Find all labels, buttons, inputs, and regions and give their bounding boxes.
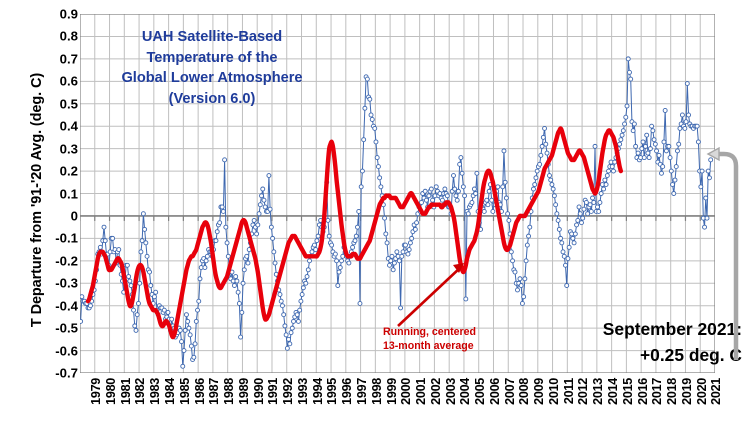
data-point-marker	[139, 250, 143, 254]
data-point-marker	[360, 169, 364, 173]
data-point-marker	[299, 299, 303, 303]
x-tick-label: 2008	[517, 378, 531, 405]
data-point-marker	[203, 266, 207, 270]
data-point-marker	[214, 239, 218, 243]
data-point-marker	[572, 241, 576, 245]
data-point-marker	[363, 106, 367, 110]
data-point-marker	[541, 135, 545, 139]
data-point-marker	[645, 133, 649, 137]
data-point-marker	[258, 203, 262, 207]
data-point-marker	[385, 241, 389, 245]
data-point-marker	[460, 171, 464, 175]
data-point-marker	[340, 259, 344, 263]
data-point-marker	[506, 212, 510, 216]
data-point-marker	[102, 225, 106, 229]
data-point-marker	[486, 203, 490, 207]
data-point-marker	[610, 165, 614, 169]
data-point-marker	[501, 185, 505, 189]
data-point-marker	[300, 292, 304, 296]
x-tick-label: 2002	[429, 378, 443, 405]
data-point-marker	[236, 290, 240, 294]
data-point-marker	[192, 355, 196, 359]
data-point-marker	[391, 268, 395, 272]
data-point-marker	[668, 156, 672, 160]
data-point-marker	[518, 277, 522, 281]
data-point-marker	[221, 209, 225, 213]
data-point-marker	[283, 324, 287, 328]
data-point-marker	[279, 299, 283, 303]
data-point-marker	[427, 194, 431, 198]
data-point-marker	[415, 221, 419, 225]
data-point-marker	[333, 252, 337, 256]
data-point-marker	[400, 254, 404, 258]
x-tick-label: 2001	[414, 378, 428, 405]
data-point-marker	[255, 232, 259, 236]
data-point-marker	[143, 227, 147, 231]
data-point-marker	[388, 263, 392, 267]
zero-line-group	[80, 216, 715, 221]
data-point-marker	[589, 209, 593, 213]
data-point-marker	[556, 218, 560, 222]
data-point-marker	[496, 185, 500, 189]
data-point-marker	[454, 194, 458, 198]
data-point-marker	[559, 236, 563, 240]
x-tick-label: 1980	[104, 378, 118, 405]
data-point-marker	[538, 162, 542, 166]
data-point-marker	[579, 221, 583, 225]
data-point-marker	[144, 241, 148, 245]
y-tick-label: -0.6	[34, 343, 78, 358]
data-point-marker	[351, 245, 355, 249]
data-point-marker	[125, 263, 129, 267]
data-point-marker	[224, 225, 228, 229]
data-point-marker	[359, 185, 363, 189]
data-point-marker	[353, 239, 357, 243]
chart-root: T Departure from '91-'20 Avg. (deg. C) 0…	[0, 0, 749, 432]
x-tick-label: 1989	[237, 378, 251, 405]
data-point-marker	[336, 283, 340, 287]
data-point-marker	[623, 122, 627, 126]
x-tick-label: 1985	[178, 378, 192, 405]
data-point-marker	[268, 207, 272, 211]
data-point-marker	[379, 185, 383, 189]
data-point-marker	[181, 364, 185, 368]
smoothing-annotation-arrow	[398, 263, 464, 326]
x-tick-label: 1988	[222, 378, 236, 405]
data-point-marker	[636, 151, 640, 155]
data-point-marker	[445, 194, 449, 198]
data-point-marker	[290, 326, 294, 330]
data-point-marker	[456, 189, 460, 193]
data-point-marker	[651, 129, 655, 133]
data-point-marker	[357, 209, 361, 213]
x-tick-label: 2021	[709, 378, 723, 405]
y-axis-ticks: 0.90.80.70.60.50.40.30.20.10-0.1-0.2-0.3…	[28, 0, 78, 432]
data-point-marker	[685, 82, 689, 86]
data-point-marker	[133, 324, 137, 328]
data-point-marker	[288, 342, 292, 346]
data-point-marker	[696, 140, 700, 144]
x-tick-label: 1990	[252, 378, 266, 405]
data-point-marker	[358, 301, 362, 305]
data-point-marker	[673, 178, 677, 182]
x-tick-label: 1984	[163, 378, 177, 405]
data-point-marker	[292, 319, 296, 323]
y-tick-label: 0.8	[34, 29, 78, 44]
title-line-1: UAH Satellite-Based	[92, 27, 332, 48]
data-point-marker	[595, 205, 599, 209]
data-point-marker	[605, 174, 609, 178]
data-point-marker	[285, 346, 289, 350]
data-point-marker	[272, 250, 276, 254]
data-point-marker	[256, 223, 260, 227]
data-point-marker	[624, 115, 628, 119]
data-point-marker	[474, 192, 478, 196]
data-point-marker	[551, 187, 555, 191]
data-point-marker	[662, 140, 666, 144]
data-point-marker	[338, 266, 342, 270]
data-point-marker	[141, 212, 145, 216]
x-tick-label: 1987	[207, 378, 221, 405]
data-point-marker	[550, 183, 554, 187]
data-point-marker	[629, 77, 633, 81]
data-point-marker	[687, 113, 691, 117]
data-point-marker	[327, 234, 331, 238]
data-point-marker	[152, 295, 156, 299]
data-point-marker	[234, 275, 238, 279]
data-point-marker	[535, 169, 539, 173]
x-tick-label: 2017	[650, 378, 664, 405]
data-point-marker	[215, 230, 219, 234]
data-point-marker	[487, 189, 491, 193]
y-tick-label: 0.9	[34, 7, 78, 22]
x-tick-label: 1997	[355, 378, 369, 405]
data-point-marker	[111, 236, 115, 240]
data-point-marker	[197, 299, 201, 303]
y-tick-label: 0	[34, 208, 78, 223]
data-point-marker	[242, 268, 246, 272]
x-tick-label: 2003	[444, 378, 458, 405]
data-point-marker	[103, 239, 107, 243]
title-line-3: Global Lower Atmosphere	[92, 68, 332, 89]
data-point-marker	[374, 140, 378, 144]
data-point-marker	[695, 124, 699, 128]
data-point-marker	[555, 212, 559, 216]
data-point-marker	[240, 310, 244, 314]
data-point-marker	[278, 292, 282, 296]
data-point-marker	[434, 185, 438, 189]
data-point-marker	[316, 234, 320, 238]
data-point-marker	[554, 203, 558, 207]
data-point-marker	[304, 281, 308, 285]
data-point-marker	[602, 187, 606, 191]
data-point-marker	[182, 349, 186, 353]
data-point-marker	[700, 169, 704, 173]
data-point-marker	[134, 328, 138, 332]
data-point-marker	[431, 198, 435, 202]
data-point-marker	[582, 207, 586, 211]
data-point-marker	[280, 304, 284, 308]
x-tick-label: 2011	[562, 378, 576, 404]
data-point-marker	[314, 248, 318, 252]
data-point-marker	[198, 277, 202, 281]
data-point-marker	[557, 227, 561, 231]
y-tick-label: 0.1	[34, 186, 78, 201]
data-point-marker	[653, 142, 657, 146]
data-point-marker	[661, 165, 665, 169]
data-point-marker	[397, 259, 401, 263]
data-point-marker	[659, 171, 663, 175]
data-point-marker	[528, 225, 532, 229]
data-point-marker	[80, 295, 84, 299]
data-point-marker	[356, 225, 360, 229]
data-point-marker	[657, 153, 661, 157]
data-point-marker	[408, 241, 412, 245]
data-point-marker	[375, 156, 379, 160]
data-point-marker	[308, 259, 312, 263]
data-point-marker	[599, 192, 603, 196]
data-point-marker	[205, 254, 209, 258]
x-tick-label: 2007	[503, 378, 517, 405]
data-point-marker	[683, 126, 687, 130]
y-tick-label: 0.6	[34, 74, 78, 89]
data-point-marker	[245, 254, 249, 258]
data-point-marker	[220, 205, 224, 209]
x-tick-label: 1995	[325, 378, 339, 405]
data-point-marker	[527, 234, 531, 238]
data-point-marker	[404, 243, 408, 247]
latest-value-callout-arrow	[706, 140, 749, 365]
data-point-marker	[531, 187, 535, 191]
data-point-marker	[631, 129, 635, 133]
data-point-marker	[627, 70, 631, 74]
data-point-marker	[539, 153, 543, 157]
data-point-marker	[370, 117, 374, 121]
data-point-marker	[269, 225, 273, 229]
data-point-marker	[312, 243, 316, 247]
y-tick-label: -0.1	[34, 231, 78, 246]
x-tick-label: 2019	[680, 378, 694, 405]
x-tick-label: 2013	[591, 378, 605, 405]
smoothing-annotation-line-2: 13-month average	[383, 339, 476, 353]
data-point-marker	[235, 279, 239, 283]
data-point-marker	[365, 77, 369, 81]
data-point-marker	[296, 319, 300, 323]
data-point-marker	[378, 176, 382, 180]
data-point-marker	[560, 241, 564, 245]
data-point-marker	[626, 57, 630, 61]
x-tick-label: 1999	[385, 378, 399, 405]
data-point-marker	[464, 297, 468, 301]
x-tick-label: 1991	[266, 378, 280, 405]
data-point-marker	[634, 144, 638, 148]
x-axis-ticks: 1979198019811982198319841985198619871988…	[0, 378, 749, 432]
y-tick-label: -0.2	[34, 253, 78, 268]
data-point-marker	[647, 156, 651, 160]
data-point-marker	[232, 283, 236, 287]
data-point-marker	[544, 142, 548, 146]
data-point-marker	[642, 156, 646, 160]
data-point-marker	[699, 185, 703, 189]
data-point-marker	[226, 254, 230, 258]
data-point-marker	[482, 209, 486, 213]
data-point-marker	[196, 308, 200, 312]
data-point-marker	[315, 239, 319, 243]
data-point-marker	[578, 212, 582, 216]
data-point-marker	[650, 124, 654, 128]
data-point-marker	[458, 162, 462, 166]
x-tick-label: 2005	[473, 378, 487, 405]
data-point-marker	[603, 178, 607, 182]
data-point-marker	[663, 108, 667, 112]
data-point-marker	[652, 138, 656, 142]
data-point-marker	[88, 304, 92, 308]
data-point-marker	[287, 337, 291, 341]
data-point-marker	[392, 261, 396, 265]
data-point-marker	[154, 290, 158, 294]
data-point-marker	[453, 187, 457, 191]
data-point-marker	[260, 194, 264, 198]
x-tick-label: 1983	[148, 378, 162, 405]
data-point-marker	[463, 194, 467, 198]
data-point-marker	[621, 129, 625, 133]
data-point-marker	[669, 169, 673, 173]
data-point-marker	[507, 218, 511, 222]
x-tick-label: 1986	[193, 378, 207, 405]
chart-title: UAH Satellite-Based Temperature of the G…	[92, 27, 332, 110]
data-point-marker	[420, 200, 424, 204]
y-tick-label: 0.2	[34, 164, 78, 179]
data-point-marker	[490, 198, 494, 202]
data-point-marker	[252, 218, 256, 222]
data-point-marker	[549, 178, 553, 182]
data-point-marker	[335, 259, 339, 263]
data-point-marker	[373, 126, 377, 130]
smoothing-annotation-line-1: Running, centered	[383, 325, 476, 339]
data-point-marker	[592, 200, 596, 204]
data-point-marker	[145, 254, 149, 258]
data-point-marker	[523, 277, 527, 281]
data-point-marker	[295, 313, 299, 317]
data-point-marker	[519, 283, 523, 287]
data-point-marker	[520, 301, 524, 305]
data-point-marker	[395, 250, 399, 254]
data-point-marker	[194, 319, 198, 323]
data-point-marker	[604, 183, 608, 187]
data-point-marker	[413, 227, 417, 231]
data-point-marker	[459, 156, 463, 160]
data-point-marker	[511, 259, 515, 263]
x-tick-label: 2014	[606, 378, 620, 405]
data-point-marker	[284, 333, 288, 337]
x-tick-label: 2020	[695, 378, 709, 405]
title-line-4: (Version 6.0)	[92, 89, 332, 110]
data-point-marker	[641, 140, 645, 144]
data-point-marker	[598, 200, 602, 204]
data-point-marker	[132, 308, 136, 312]
data-point-marker	[552, 194, 556, 198]
data-point-marker	[326, 218, 330, 222]
data-point-marker	[611, 169, 615, 173]
data-point-marker	[406, 252, 410, 256]
data-point-marker	[443, 187, 447, 191]
data-point-marker	[148, 270, 152, 274]
x-tick-label: 2016	[636, 378, 650, 405]
data-point-marker	[533, 183, 537, 187]
data-point-marker	[466, 212, 470, 216]
x-tick-label: 2009	[532, 378, 546, 405]
smoothing-annotation-label: Running, centered 13-month average	[383, 325, 476, 354]
x-tick-label: 1981	[119, 378, 133, 405]
x-tick-label: 1993	[296, 378, 310, 405]
data-point-marker	[362, 138, 366, 142]
data-point-marker	[246, 261, 250, 265]
data-point-marker	[149, 283, 153, 287]
data-point-marker	[289, 331, 293, 335]
data-point-marker	[625, 104, 629, 108]
data-point-marker	[513, 270, 517, 274]
data-point-marker	[566, 257, 570, 261]
data-point-marker	[186, 319, 190, 323]
data-point-marker	[337, 270, 341, 274]
y-tick-label: -0.4	[34, 298, 78, 313]
data-point-marker	[461, 185, 465, 189]
data-point-marker	[241, 281, 245, 285]
y-tick-label: 0.3	[34, 141, 78, 156]
data-point-marker	[376, 165, 380, 169]
data-point-marker	[193, 342, 197, 346]
data-point-marker	[239, 335, 243, 339]
data-point-marker	[330, 243, 334, 247]
x-tick-label: 1979	[89, 378, 103, 405]
data-point-marker	[273, 261, 277, 265]
data-point-marker	[534, 176, 538, 180]
data-point-marker	[563, 263, 567, 267]
x-tick-label: 1982	[133, 378, 147, 405]
data-point-marker	[502, 149, 506, 153]
y-tick-label: 0.5	[34, 96, 78, 111]
data-point-marker	[383, 216, 387, 220]
data-point-marker	[298, 308, 302, 312]
data-point-marker	[525, 243, 529, 247]
data-point-marker	[257, 212, 261, 216]
data-point-marker	[491, 209, 495, 213]
data-point-marker	[135, 313, 139, 317]
data-point-marker	[597, 209, 601, 213]
x-tick-label: 2004	[458, 378, 472, 405]
data-point-marker	[591, 196, 595, 200]
data-point-marker	[522, 295, 526, 299]
data-point-marker	[472, 187, 476, 191]
data-point-marker	[440, 198, 444, 202]
data-point-marker	[127, 275, 131, 279]
data-point-marker	[655, 149, 659, 153]
x-tick-label: 2000	[399, 378, 413, 405]
data-point-marker	[577, 205, 581, 209]
y-tick-label: -0.5	[34, 321, 78, 336]
data-point-marker	[369, 113, 373, 117]
data-point-marker	[618, 142, 622, 146]
data-point-marker	[451, 174, 455, 178]
data-point-marker	[237, 301, 241, 305]
data-point-marker	[301, 286, 305, 290]
data-point-marker	[399, 306, 403, 310]
data-point-marker	[166, 310, 170, 314]
data-point-marker	[646, 151, 650, 155]
data-point-marker	[620, 133, 624, 137]
data-point-marker	[410, 236, 414, 240]
data-point-marker	[575, 223, 579, 227]
